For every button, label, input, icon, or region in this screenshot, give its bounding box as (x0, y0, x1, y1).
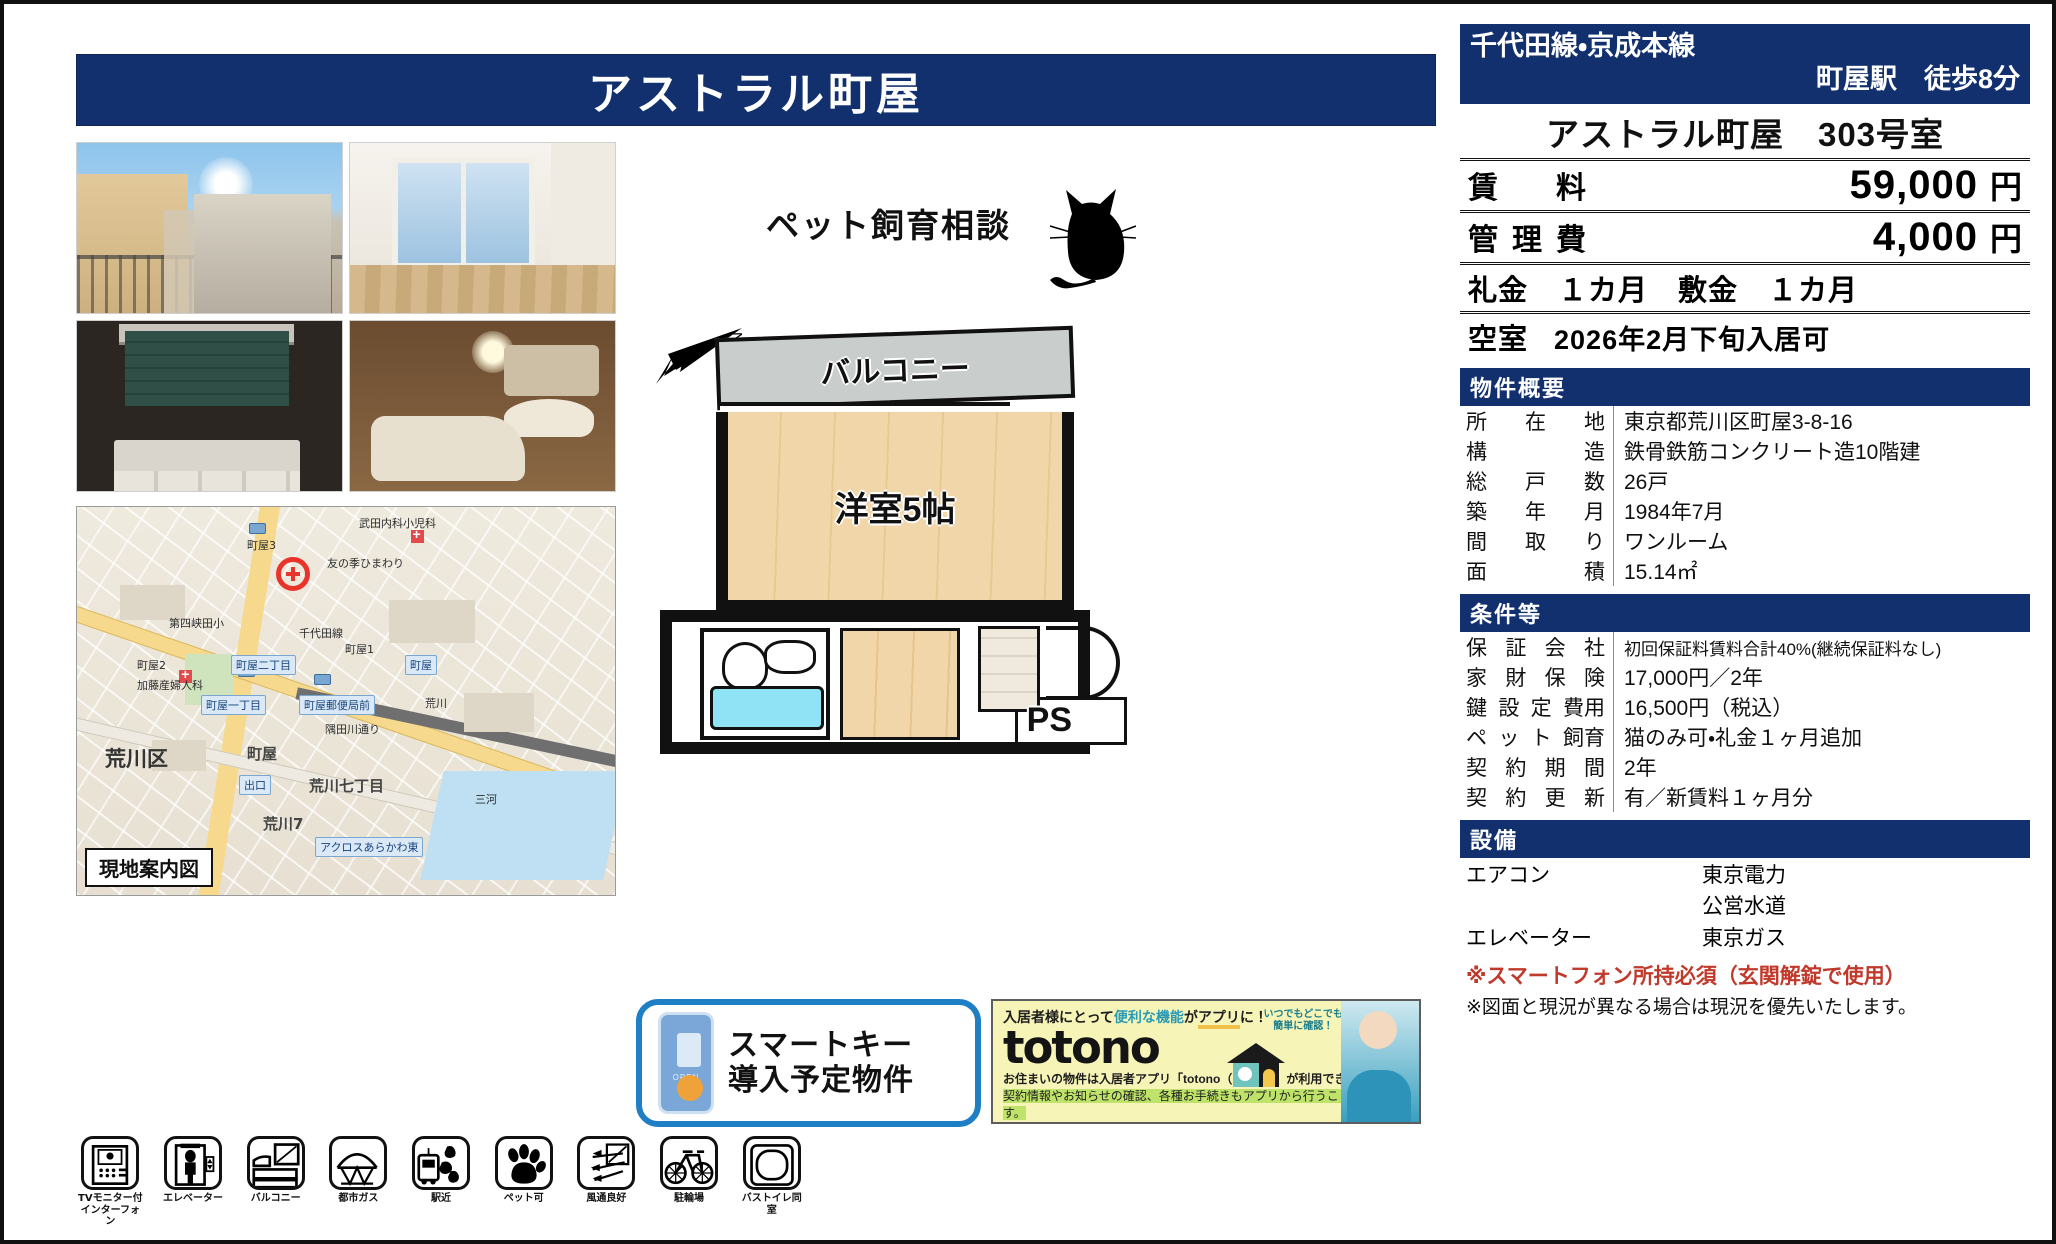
station-access-bar: 千代田線・京成本線 町屋駅 徒歩8分 (1460, 24, 2030, 104)
plan-bathtub-icon (710, 686, 824, 730)
map-label: 千代田線 (299, 625, 343, 641)
door-handle-icon (677, 1033, 701, 1067)
plan-main-room: 洋室5帖 (716, 412, 1074, 612)
row-value: 猫のみ可・礼金１ヶ月追加 (1614, 722, 1862, 752)
row-key: 家財保険 (1466, 662, 1614, 692)
airflow-icon (577, 1136, 635, 1190)
map-label: 町屋郵便局前 (299, 695, 375, 715)
facility-icon-caption: バルコニー (241, 1193, 310, 1205)
facility-icon-caption: 駅近 (407, 1193, 476, 1205)
map-water (421, 771, 616, 880)
facility-icon-caption: 駐輪場 (655, 1193, 724, 1205)
row-value: 東京都荒川区町屋3-8-16 (1614, 406, 1853, 436)
balcony-railing (77, 255, 342, 313)
map-label: 出口 (239, 775, 271, 795)
row-key: 鍵設定費用 (1466, 692, 1614, 722)
plan-room-label: 洋室5帖 (835, 482, 956, 531)
rent-row: 賃 料 59,000 円 (1460, 158, 2030, 210)
row-key: 契約更新 (1466, 782, 1614, 812)
elevator-icon (164, 1136, 222, 1190)
map-label: 隅田川通り (325, 721, 380, 737)
photo-gallery (76, 142, 616, 492)
equipment-item (1466, 891, 1702, 923)
row-key: 総戸数 (1466, 466, 1614, 496)
row-value: 初回保証料賃料合計40%(継続保証料なし) (1614, 635, 1941, 660)
plan-unit-bath (700, 628, 830, 740)
intercom-icon (81, 1136, 139, 1190)
row-value: 15.14㎡ (1614, 556, 1698, 586)
row-key: 保証会社 (1466, 632, 1614, 662)
table-row: 家財保険17,000円／2年 (1460, 662, 2030, 692)
facility-icon-strip: TVモニター付インターフォンエレベーターバルコニー都市ガス駅近ペット可風通良好駐… (76, 1136, 806, 1222)
table-row: 面積15.14㎡ (1460, 556, 2030, 586)
map-label: 友の季ひまわり (327, 555, 404, 571)
equipment-col-right: 東京電力公営水道東京ガス (1702, 860, 1786, 955)
window (392, 157, 535, 269)
row-key: 面積 (1466, 556, 1614, 586)
myso ku-sheet: アストラル町屋 (0, 0, 2056, 1244)
left-column: アストラル町屋 (26, 24, 1444, 1212)
table-row: 鍵設定費用16,500円（税込） (1460, 692, 2030, 722)
totono-head-d: アプリ (1198, 1009, 1240, 1029)
facility-icon-item: バルコニー (241, 1136, 310, 1205)
map-block (389, 600, 475, 643)
management-fee-row: 管理費 4,000 円 (1460, 210, 2030, 262)
map-label: 三河 (475, 791, 497, 807)
plan-lower-section: PS (660, 610, 1090, 754)
map-label: 町屋 (247, 743, 277, 764)
overview-heading: 物件概要 (1460, 368, 2030, 406)
facility-icon-item: TVモニター付インターフォン (76, 1136, 145, 1228)
equipment-item: 東京電力 (1702, 860, 1786, 892)
table-row: 契約更新有／新賃料１ヶ月分 (1460, 782, 2030, 812)
pawprint-icon (495, 1136, 553, 1190)
facility-icon-item: 駐輪場 (655, 1136, 724, 1205)
map-label: 武田内科小児科 (359, 515, 436, 531)
table-row: 築年月1984年7月 (1460, 496, 2030, 526)
equipment-item: エアコン (1466, 860, 1702, 892)
sun-glare (199, 157, 253, 211)
smartphone-warning: ※スマートフォン所持必須（玄関解錠で使用） (1460, 956, 2030, 990)
rent-value: 59,000 (1640, 163, 1978, 208)
vacancy-value: 2026年2月下旬入居可 (1554, 318, 1830, 357)
equipment-item: 東京ガス (1702, 923, 1786, 955)
management-fee-label: 管理費 (1468, 215, 1640, 259)
map-label: 町屋2 (137, 657, 166, 673)
map-label: 町屋1 (345, 641, 374, 657)
map-label: 荒川区 (105, 743, 168, 773)
kitchen-tile (125, 331, 289, 406)
flooring (350, 265, 615, 313)
map-label: 加藤産婦人科 (137, 677, 203, 693)
plan-entrance (978, 626, 1040, 712)
row-key: 間取り (1466, 526, 1614, 556)
facility-icon-caption: ペット可 (489, 1193, 558, 1205)
row-value: 有／新賃料１ヶ月分 (1614, 782, 1813, 812)
plan-balcony-label: バルコニー (820, 343, 971, 392)
row-value: 26戸 (1614, 466, 1668, 496)
totono-bubble-2: 簡単に確認！ (1264, 1021, 1344, 1033)
overview-table: 所在地東京都荒川区町屋3-8-16構造鉄骨鉄筋コンクリート造10階建総戸数26戸… (1460, 406, 2030, 586)
wash-basin (504, 399, 594, 436)
location-map[interactable]: 武田内科小児科町屋3友の季ひまわり第四峡田小千代田線町屋1町屋2町屋二丁目町屋加… (76, 506, 616, 896)
plan-balcony: バルコニー (715, 326, 1075, 410)
wall (551, 143, 615, 269)
facility-icon-caption: 風通良好 (572, 1193, 641, 1205)
facility-icon-item: バストイレ同室 (737, 1136, 806, 1216)
smartkey-banner[interactable]: OPEN スマートキー 導入予定物件 (636, 999, 981, 1127)
smartkey-line1: スマートキー (728, 1028, 914, 1063)
station-icon (412, 1136, 470, 1190)
facility-icon-item: ペット可 (489, 1136, 558, 1205)
mirror (504, 345, 599, 396)
plan-ps-label: PS (1027, 701, 1072, 740)
facility-icon-item: エレベーター (159, 1136, 228, 1205)
plan-entry-door-icon (1046, 626, 1120, 700)
plan-hallway (840, 628, 960, 740)
totono-sub2-text: 契約情報やお知らせの確認、各種お手続きもアプリから行うことが可能です。 (1003, 1089, 1399, 1120)
map-label: 荒川 (425, 695, 447, 711)
table-row: 総戸数26戸 (1460, 466, 2030, 496)
equipment-item: エレベーター (1466, 923, 1702, 955)
photo-room-interior[interactable] (349, 142, 616, 314)
totono-bubble: いつでもどこでも 簡単に確認！ (1264, 1009, 1344, 1033)
table-row: 間取りワンルーム (1460, 526, 2030, 556)
equipment-heading: 設備 (1460, 820, 2030, 858)
equipment-item: 公営水道 (1702, 891, 1786, 923)
table-row: 保証会社初回保証料賃料合計40%(継続保証料なし) (1460, 632, 2030, 662)
equipment-col-left: エアコン エレベーター (1466, 860, 1702, 955)
facility-icon-item: 駅近 (407, 1136, 476, 1205)
cat-silhouette-icon (1046, 184, 1136, 294)
facility-icon-caption: TVモニター付インターフォン (76, 1193, 145, 1228)
smartkey-text: スマートキー 導入予定物件 (728, 1028, 914, 1099)
station-walk: 町屋駅 徒歩8分 (1470, 63, 2020, 96)
bicycle-icon (660, 1136, 718, 1190)
row-key: 所在地 (1466, 406, 1614, 436)
map-caption: 現地案内図 (85, 848, 213, 887)
bus-stop-icon (249, 523, 266, 534)
map-label: 第四峡田小 (169, 615, 224, 631)
right-info-column: 千代田線・京成本線 町屋駅 徒歩8分 アストラル町屋 303号室 賃 料 59,… (1460, 24, 2030, 1220)
bathtub (371, 416, 525, 481)
cabinet (114, 471, 300, 491)
facility-icon-item: 風通良好 (572, 1136, 641, 1205)
smartkey-line2: 導入予定物件 (728, 1063, 914, 1098)
row-key: 築年月 (1466, 496, 1614, 526)
photo-balcony-view[interactable] (76, 142, 343, 314)
bus-stop-icon (314, 674, 331, 685)
map-label: 町屋3 (247, 537, 276, 553)
plan-basin-icon (764, 640, 816, 674)
map-label: 町屋 (405, 655, 437, 675)
sink (114, 440, 300, 474)
row-value: 鉄骨鉄筋コンクリート造10階建 (1614, 436, 1920, 466)
vacancy-label: 空室 (1468, 316, 1528, 358)
conditions-heading: 条件等 (1460, 594, 2030, 632)
table-row: 契約期間2年 (1460, 752, 2030, 782)
facility-icon-caption: 都市ガス (324, 1193, 393, 1205)
row-value: 1984年7月 (1614, 496, 1724, 526)
row-key: 構造 (1466, 436, 1614, 466)
conditions-table: 保証会社初回保証料賃料合計40%(継続保証料なし)家財保険17,000円／2年鍵… (1460, 632, 2030, 812)
totono-head-c: が (1184, 1009, 1198, 1025)
totono-bubble-1: いつでもどこでも (1264, 1009, 1344, 1021)
rent-label: 賃 料 (1468, 163, 1640, 207)
disclaimer-note: ※図面と現況が異なる場合は現況を優先いたします。 (1460, 990, 2030, 1021)
rent-unit: 円 (1990, 162, 2022, 208)
plan-toilet-icon (722, 642, 768, 690)
map-label: 荒川7 (263, 813, 303, 834)
row-key: 契約期間 (1466, 752, 1614, 782)
hospital-icon (411, 530, 424, 543)
table-row: 構造鉄骨鉄筋コンクリート造10階建 (1460, 436, 2030, 466)
totono-person-photo (1341, 1001, 1419, 1122)
station-lines: 千代田線・京成本線 (1470, 30, 2020, 63)
lock-icon (677, 1075, 703, 1101)
row-value: 2年 (1614, 752, 1657, 782)
map-label: 荒川七丁目 (309, 775, 384, 796)
facility-icon-caption: エレベーター (159, 1193, 228, 1205)
page-title: アストラル町屋 (76, 54, 1436, 126)
totono-banner[interactable]: 入居者様にとって便利な機能がアプリに！ いつでもどこでも 簡単に確認！ toto… (991, 999, 1421, 1124)
vacancy-row: 空室 2026年2月下旬入居可 (1460, 311, 2030, 360)
floor-plan[interactable]: N バルコニー 洋室5帖 (646, 314, 1166, 754)
facility-icon-caption: バストイレ同室 (737, 1193, 806, 1216)
map-block (464, 693, 534, 732)
photo-kitchen[interactable] (76, 320, 343, 492)
building-room-title: アストラル町屋 303号室 (1460, 104, 2030, 158)
bathtoilet-icon (743, 1136, 801, 1190)
citygas-icon (329, 1136, 387, 1190)
facility-icon-item: 都市ガス (324, 1136, 393, 1205)
photo-bathroom[interactable] (349, 320, 616, 492)
pet-consultation-note: ペット飼育相談 (766, 199, 1011, 247)
map-label: 町屋二丁目 (231, 655, 296, 675)
management-fee-value: 4,000 (1640, 215, 1978, 260)
deposit-row: 礼金 １カ月 敷金 １カ月 (1460, 262, 2030, 311)
row-value: 17,000円／2年 (1614, 662, 1763, 692)
map-label: 町屋一丁目 (201, 695, 266, 715)
row-value: ワンルーム (1614, 526, 1728, 556)
table-row: ペット飼育猫のみ可・礼金１ヶ月追加 (1460, 722, 2030, 752)
smartphone-icon: OPEN (658, 1012, 714, 1114)
house-icon (1225, 1041, 1287, 1089)
table-row: 所在地東京都荒川区町屋3-8-16 (1460, 406, 2030, 436)
balcony-icon (247, 1136, 305, 1190)
map-label: アクロスあらかわ東 (315, 837, 423, 857)
row-value: 16,500円（税込） (1614, 692, 1793, 722)
equipment-table: エアコン エレベーター 東京電力公営水道東京ガス (1460, 858, 2030, 957)
row-key: ペット飼育 (1466, 722, 1614, 752)
management-fee-unit: 円 (1990, 214, 2022, 260)
